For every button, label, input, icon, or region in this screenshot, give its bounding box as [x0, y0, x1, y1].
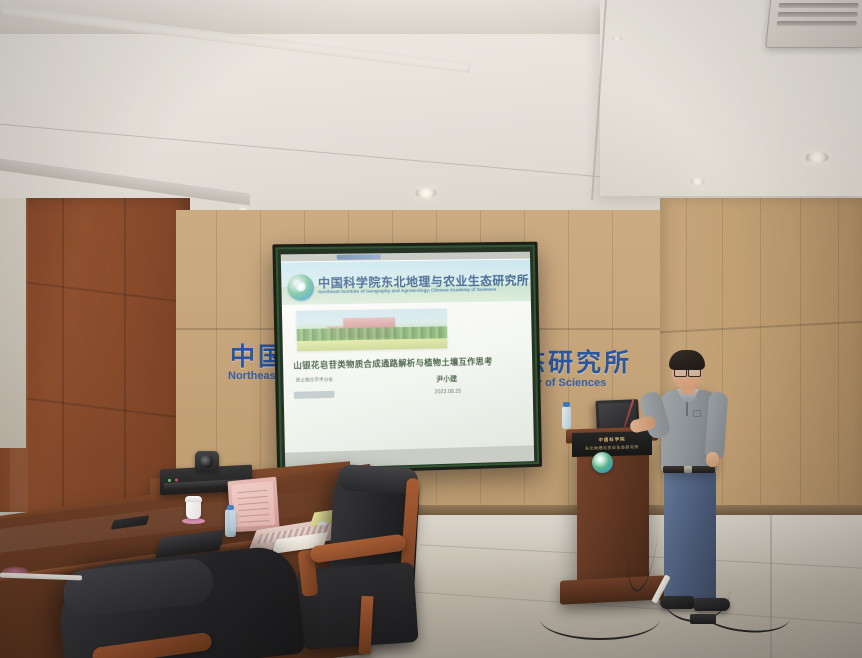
conference-room-photo: 中国科 Northeast Inst 态研究所 emy of Sciences … [0, 0, 862, 658]
ceramic-mug[interactable] [186, 500, 201, 519]
cup-lid [318, 521, 328, 526]
toolbar-button[interactable] [337, 254, 381, 260]
slide-campus-photo [296, 308, 447, 351]
ceiling-downlight [690, 178, 705, 185]
power-adapter [690, 614, 716, 624]
power-cable [540, 598, 660, 640]
slide-subtitle: 黑土粮仓学术分会 [296, 377, 333, 384]
projection-screen[interactable]: 中国科学院东北地理与农业生态研究所 Northeast Institute of… [272, 242, 542, 476]
video-conference-camera[interactable] [195, 451, 219, 471]
water-bottle[interactable] [225, 509, 236, 537]
podium-water-bottle[interactable] [562, 406, 571, 429]
speaker-hair [669, 350, 705, 370]
slide-badge [294, 391, 335, 399]
slide-date: 2023.08.25 [435, 389, 462, 396]
podium-nameplate: 中国科学院 东北地理与农业生态研究所 [572, 431, 652, 457]
ceiling-downlight [805, 152, 829, 163]
slide-title: 山银花皂苷类物质合成通路解析与植物土壤互作思考 [293, 355, 524, 372]
podium-nameplate-line1: 中国科学院 [572, 436, 652, 444]
ceiling-downlight [415, 188, 437, 198]
slide-header-banner: 中国科学院东北地理与农业生态研究所 Northeast Institute of… [281, 260, 531, 305]
wall-column-left [0, 198, 26, 448]
podium-nameplate-line2: 东北地理与农业生态研究所 [572, 444, 652, 452]
air-conditioning-vent [765, 0, 862, 48]
smoke-detector-icon [612, 36, 622, 41]
speaker-hand-right [706, 452, 719, 467]
institute-emblem-icon [592, 452, 613, 473]
presentation-slide: 中国科学院东北地理与农业生态研究所 Northeast Institute of… [281, 252, 534, 453]
speaker-belt-buckle [684, 466, 692, 473]
slide-author: 尹小建 [436, 374, 457, 384]
